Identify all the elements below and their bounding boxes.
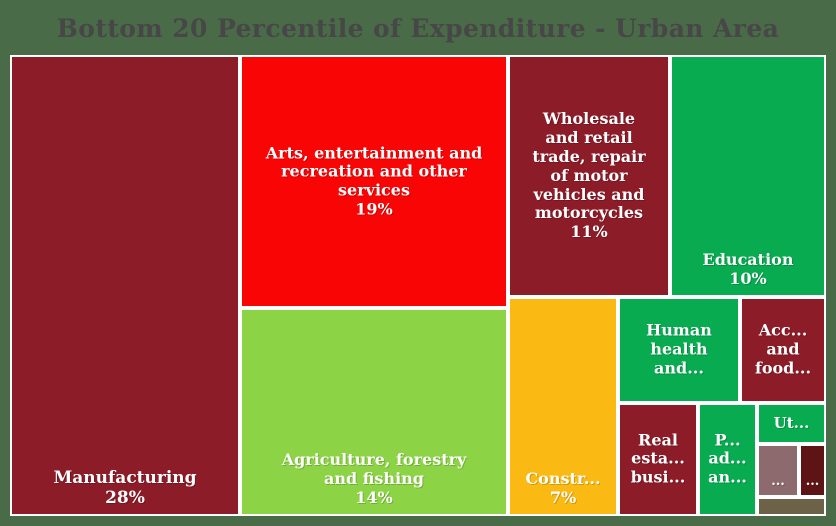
treemap-tile-label-construction: Constr... 7% (510, 470, 616, 508)
treemap-tile-other-mauve[interactable]: ... (757, 444, 799, 497)
treemap-tile-label-agriculture-forestry-fishing: Agriculture, forestry and fishing 14% (242, 451, 506, 508)
treemap-chart: Bottom 20 Percentile of Expenditure - Ur… (0, 0, 836, 526)
treemap-tile-other-darkred[interactable]: ... (799, 444, 826, 497)
treemap-tile-label-other-darkred: ... (801, 474, 824, 489)
treemap-tile-other-olive[interactable] (757, 497, 826, 516)
treemap-tile-label-education: Education 10% (672, 251, 824, 289)
treemap-tile-label-wholesale-retail-trade: Wholesale and retail trade, repair of mo… (510, 110, 668, 242)
treemap-tile-manufacturing[interactable]: Manufacturing 28% (10, 55, 240, 516)
treemap-tile-construction[interactable]: Constr... 7% (508, 297, 618, 516)
treemap-plot-area: Manufacturing 28%Arts, entertainment and… (10, 55, 826, 516)
treemap-tile-label-arts-entertainment-recreation: Arts, entertainment and recreation and o… (242, 144, 506, 220)
treemap-tile-label-other-mauve: ... (759, 474, 797, 489)
treemap-tile-accommodation-food[interactable]: Acc... and food... (740, 297, 826, 403)
treemap-tile-arts-entertainment-recreation[interactable]: Arts, entertainment and recreation and o… (240, 55, 508, 308)
treemap-tile-label-human-health: Human health and... (620, 322, 738, 379)
treemap-tile-education[interactable]: Education 10% (670, 55, 826, 297)
treemap-tile-label-accommodation-food: Acc... and food... (742, 322, 824, 379)
treemap-tile-label-manufacturing: Manufacturing 28% (12, 468, 238, 508)
treemap-tile-human-health[interactable]: Human health and... (618, 297, 740, 403)
treemap-tile-public-administration[interactable]: P... ad... an... (698, 403, 757, 516)
treemap-tile-agriculture-forestry-fishing[interactable]: Agriculture, forestry and fishing 14% (240, 308, 508, 516)
treemap-tile-wholesale-retail-trade[interactable]: Wholesale and retail trade, repair of mo… (508, 55, 670, 297)
chart-title: Bottom 20 Percentile of Expenditure - Ur… (0, 14, 836, 43)
treemap-tile-label-real-estate-business: Real esta... busi... (620, 431, 696, 488)
treemap-tile-utilities[interactable]: Ut... (757, 403, 826, 444)
treemap-tile-real-estate-business[interactable]: Real esta... busi... (618, 403, 698, 516)
treemap-tile-label-public-administration: P... ad... an... (700, 431, 755, 488)
treemap-tile-label-utilities: Ut... (759, 415, 824, 433)
